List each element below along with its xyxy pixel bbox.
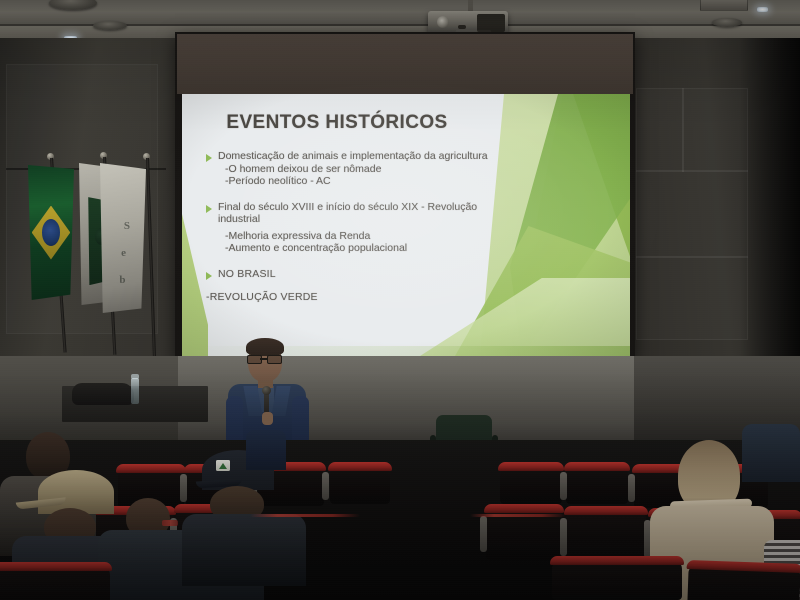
hoodie-logo (162, 520, 178, 526)
slide-subbullet-text: -Melhoria expressiva da Renda (225, 230, 536, 243)
institution-flag-2: S e b (100, 163, 146, 313)
projector-lens-icon (437, 16, 449, 28)
seat[interactable] (330, 466, 390, 504)
glasses-icon (267, 355, 282, 364)
projector-port (458, 25, 466, 29)
slide-caps-plain-text: -REVOLUÇÃO VERDE (206, 291, 536, 304)
slide-subbullet-text: -O homem deixou de ser nômade (225, 163, 536, 176)
right-wall-panel (636, 256, 748, 340)
seat-arm (322, 472, 329, 500)
slide-subbullet-text: -Período neolítico - AC (225, 175, 536, 188)
slide-bullet-text: Final do século XVIII e início do século… (218, 201, 503, 226)
seat-arm (628, 474, 635, 502)
ceiling-vent (700, 0, 748, 11)
projection-screen-header (177, 34, 633, 94)
flag-emblem-mark: b (119, 274, 125, 286)
presenter-arm-left (226, 396, 243, 446)
slide-caps-bullet-text: NO BRASIL (218, 268, 276, 281)
slide-block-3: NO BRASIL (206, 268, 536, 281)
slide-subbullet-text: -Aumento e concentração populacional (225, 242, 536, 255)
person-body (246, 430, 286, 470)
slide-bullet-row: Final do século XVIII e início do século… (206, 201, 536, 226)
ceiling-speaker-icon (93, 21, 127, 30)
brazil-flag (28, 165, 74, 300)
slide-block-2: Final do século XVIII e início do século… (206, 201, 536, 255)
khaki-cap (38, 470, 114, 514)
auditorium-scene: S e b EVENTOS HISTÓRICOS Domesticação de… (0, 0, 800, 600)
slide-spacer (206, 255, 536, 268)
slide-title: EVENTOS HISTÓRICOS (182, 112, 492, 134)
cap-logo-triangle-icon (219, 463, 227, 469)
seat[interactable] (0, 566, 110, 600)
slide-spacer (206, 188, 536, 201)
seat-row-highlight (470, 514, 566, 517)
glasses-icon (247, 355, 262, 364)
seat-row-highlight (250, 514, 360, 517)
presenter-arm-right (292, 396, 309, 446)
microphone-head-icon (262, 386, 271, 395)
slide-block-1: Domesticação de animais e implementação … (206, 150, 536, 188)
presenter-hand (262, 412, 273, 425)
slide-bullet-text: Domesticação de animais e implementação … (218, 150, 488, 163)
ceiling-speaker-icon (712, 18, 742, 27)
slide-bullet-list: Domesticação de animais e implementação … (206, 150, 536, 304)
flag-emblem-mark: e (121, 247, 126, 259)
right-wall-panel (636, 88, 684, 172)
seat[interactable] (552, 560, 682, 600)
seat-arm (480, 516, 487, 552)
dark-bag (72, 383, 134, 405)
cap-logo-icon (216, 460, 230, 471)
flag-emblem-mark: S (124, 220, 130, 232)
right-wall-panel (682, 88, 748, 172)
water-bottle (131, 378, 139, 404)
seat-arm (560, 472, 567, 500)
ceiling-light (757, 7, 768, 12)
projector-body-dark (477, 14, 505, 32)
audience-person-partial (246, 430, 286, 468)
seat[interactable] (687, 564, 800, 600)
seat-arm (560, 518, 567, 556)
slide-bullet-row: Domesticação de animais e implementação … (206, 150, 536, 163)
right-wall-panel (636, 170, 748, 258)
brazil-flag-globe (42, 219, 60, 246)
slide-content: EVENTOS HISTÓRICOS Domesticação de anima… (182, 94, 630, 356)
projection-screen-surface: EVENTOS HISTÓRICOS Domesticação de anima… (182, 94, 630, 356)
glasses-bridge (260, 358, 267, 360)
person-body (182, 514, 306, 586)
bullet-triangle-icon (206, 272, 212, 280)
seat[interactable] (566, 466, 628, 504)
bullet-triangle-icon (206, 205, 212, 213)
bullet-triangle-icon (206, 154, 212, 162)
seat[interactable] (500, 466, 562, 504)
slide-spacer (206, 281, 536, 291)
